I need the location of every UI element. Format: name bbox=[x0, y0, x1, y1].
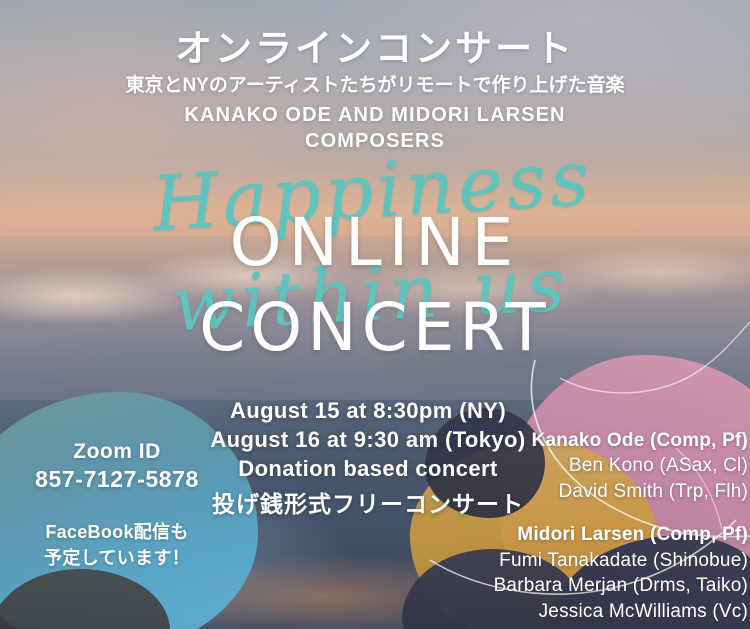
facebook-note-line-1: FaceBook配信も bbox=[8, 519, 226, 545]
subtitle: 東京とNYのアーティストたちがリモートで作り上げた音楽 bbox=[0, 70, 750, 97]
performer-entry: Fumi Tanakadate (Shinobue) bbox=[428, 548, 748, 573]
performer-entry: Barbara Merjan (Drms, Taiko) bbox=[428, 573, 748, 598]
facebook-note: FaceBook配信も 予定しています！ bbox=[8, 519, 226, 571]
performer-entry: David Smith (Trp, Flh) bbox=[428, 479, 748, 504]
performer-group-one: Kanako Ode (Comp, Pf) Ben Kono (ASax, Cl… bbox=[428, 428, 748, 504]
performer-group-two: Midori Larsen (Comp, Pf) Fumi Tanakadate… bbox=[428, 522, 748, 624]
performer-entry: Ben Kono (ASax, Cl) bbox=[428, 453, 748, 478]
zoom-info-panel: Zoom ID 857-7127-5878 FaceBook配信も 予定していま… bbox=[8, 440, 226, 571]
display-word-concert: CONCERT bbox=[0, 289, 750, 366]
concert-poster: オンラインコンサート 東京とNYのアーティストたちがリモートで作り上げた音楽 K… bbox=[0, 0, 750, 629]
zoom-id-value[interactable]: 857-7127-5878 bbox=[8, 466, 226, 493]
performer-list: Kanako Ode (Comp, Pf) Ben Kono (ASax, Cl… bbox=[428, 428, 748, 629]
performer-entry: Jessica McWilliams (Vc) bbox=[428, 599, 748, 624]
performer-lead: Kanako Ode (Comp, Pf) bbox=[428, 428, 748, 453]
display-word-online: ONLINE bbox=[0, 204, 750, 281]
page-title: オンラインコンサート bbox=[0, 18, 750, 72]
composer-names: KANAKO ODE AND MIDORI LARSEN bbox=[0, 103, 750, 129]
schedule-ny: August 15 at 8:30pm (NY) bbox=[138, 396, 598, 425]
zoom-id-label: Zoom ID bbox=[8, 440, 226, 464]
performer-lead: Midori Larsen (Comp, Pf) bbox=[428, 522, 748, 547]
facebook-note-line-2: 予定しています！ bbox=[8, 545, 226, 571]
